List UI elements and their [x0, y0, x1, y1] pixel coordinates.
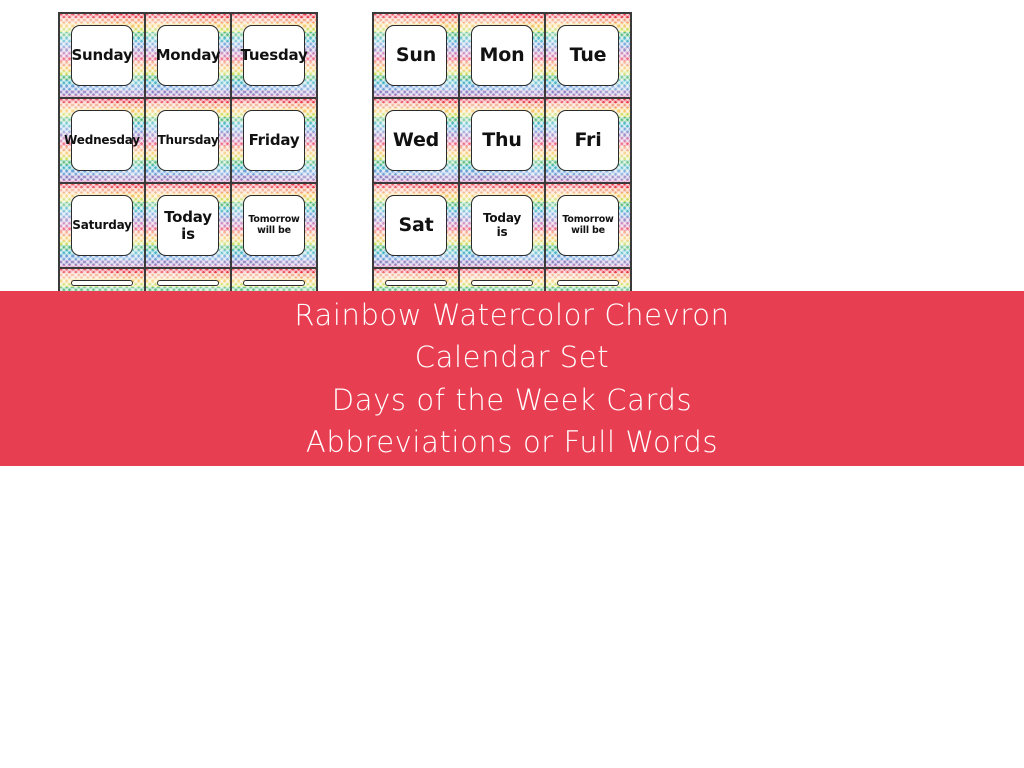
day-card: Wednesday: [59, 98, 145, 183]
day-card-label: Fri: [557, 110, 619, 171]
title-banner: Rainbow Watercolor Chevron Calendar Set …: [0, 291, 1024, 466]
day-card-line: Today: [164, 209, 212, 226]
day-card-line: Friday: [249, 132, 300, 149]
day-card-label: Saturday: [71, 195, 133, 256]
day-card-line: Thu: [482, 130, 521, 151]
day-card-line: Tue: [570, 45, 607, 66]
day-card-label: [385, 280, 447, 286]
day-card: [373, 268, 459, 292]
day-card-line: Thursday: [158, 134, 219, 147]
banner-line-1: Rainbow Watercolor Chevron: [0, 294, 1024, 336]
day-card: Tomorrowwill be: [545, 183, 631, 268]
day-card-label: Wednesday: [71, 110, 133, 171]
day-card: [231, 268, 317, 292]
day-card-label: [471, 280, 533, 286]
day-card-line: Sat: [399, 215, 434, 236]
day-card-label: Thu: [471, 110, 533, 171]
day-card-line: will be: [571, 226, 605, 237]
day-card: Sat: [373, 183, 459, 268]
day-card-line: is: [181, 226, 195, 243]
day-card-line: Sun: [396, 45, 436, 66]
day-card: Sunday: [59, 13, 145, 98]
day-card: Tuesday: [231, 13, 317, 98]
day-card-label: Tue: [557, 25, 619, 86]
day-card: Tue: [545, 13, 631, 98]
banner-line-4: Abbreviations or Full Words: [0, 421, 1024, 463]
day-card: Friday: [231, 98, 317, 183]
day-card-label: Tuesday: [243, 25, 305, 86]
day-card: Todayis: [145, 183, 231, 268]
day-card-line: Wednesday: [64, 134, 140, 147]
day-card: Monday: [145, 13, 231, 98]
day-card-line: Mon: [480, 45, 525, 66]
day-card-label: [157, 280, 219, 286]
day-card: Fri: [545, 98, 631, 183]
card-grid-abbreviations: SunMonTueWedThuFriSatTodayisTomorrowwill…: [372, 12, 632, 292]
day-card-line: will be: [257, 226, 291, 237]
day-card-line: Tuesday: [240, 47, 307, 64]
day-card-label: Monday: [157, 25, 219, 86]
day-card: Todayis: [459, 183, 545, 268]
day-card: [545, 268, 631, 292]
day-card-line: Monday: [156, 47, 221, 64]
day-card: [59, 268, 145, 292]
day-card: Thu: [459, 98, 545, 183]
day-card-label: Sat: [385, 195, 447, 256]
day-card: [145, 268, 231, 292]
banner-line-2: Calendar Set: [0, 336, 1024, 378]
day-card-line: Fri: [574, 130, 601, 151]
day-card-label: Friday: [243, 110, 305, 171]
day-card-line: Tomorrow: [562, 215, 613, 226]
day-card-label: [243, 280, 305, 286]
day-card: [459, 268, 545, 292]
day-card-line: Tomorrow: [248, 215, 299, 226]
day-card-label: Thursday: [157, 110, 219, 171]
day-card: Wed: [373, 98, 459, 183]
day-card-label: Tomorrowwill be: [557, 195, 619, 256]
day-card: Thursday: [145, 98, 231, 183]
day-card: Sun: [373, 13, 459, 98]
day-card-line: Saturday: [72, 219, 131, 232]
day-card-label: Tomorrowwill be: [243, 195, 305, 256]
day-card-label: Wed: [385, 110, 447, 171]
day-card-label: Sunday: [71, 25, 133, 86]
day-card-line: is: [497, 226, 508, 239]
day-card-line: Today: [483, 212, 521, 225]
product-preview-area: SundayMondayTuesdayWednesdayThursdayFrid…: [0, 0, 1024, 292]
page-blank-area: [0, 466, 1024, 768]
day-card-label: Todayis: [157, 195, 219, 256]
day-card-label: Sun: [385, 25, 447, 86]
day-card-label: [557, 280, 619, 286]
day-card: Mon: [459, 13, 545, 98]
card-grid-full-words: SundayMondayTuesdayWednesdayThursdayFrid…: [58, 12, 318, 292]
day-card-label: [71, 280, 133, 286]
day-card-line: Sunday: [71, 47, 132, 64]
banner-line-3: Days of the Week Cards: [0, 379, 1024, 421]
day-card-line: Wed: [393, 130, 439, 151]
day-card: Tomorrowwill be: [231, 183, 317, 268]
day-card-label: Mon: [471, 25, 533, 86]
day-card: Saturday: [59, 183, 145, 268]
day-card-label: Todayis: [471, 195, 533, 256]
